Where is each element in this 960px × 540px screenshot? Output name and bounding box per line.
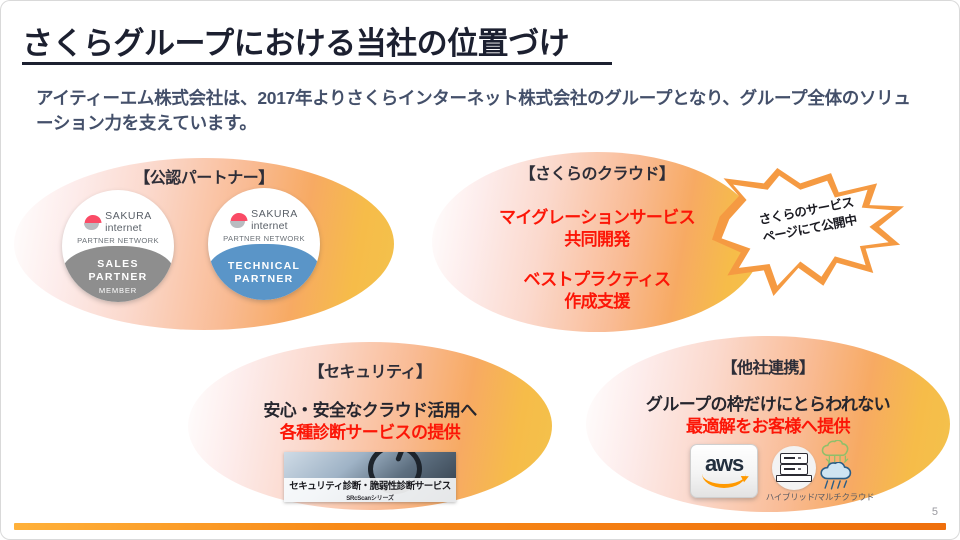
server-rack-icon [780, 464, 808, 475]
page-title: さくらグループにおける当社の位置づけ [22, 18, 642, 63]
group-partner-heading: 【公認パートナー】 [14, 164, 394, 188]
badge-tech-header: SAKURA internet PARTNER NETWORK [208, 188, 320, 246]
group-alliance-line2: 最適解をお客様へ提供 [586, 416, 950, 438]
sakura-mark-icon [84, 214, 101, 231]
slide-canvas: さくらグループにおける当社の位置づけ アイティーエム株式会社は、2017年よりさ… [0, 0, 960, 540]
badge-tier-line1: SALES [97, 258, 139, 270]
group-security-line1: 安心・安全なクラウド活用へ [188, 400, 552, 422]
badge-sales-partner: SAKURA internet PARTNER NETWORK SALES PA… [62, 190, 174, 302]
badge-network-label: PARTNER NETWORK [223, 234, 305, 243]
aws-smile-icon [702, 471, 746, 488]
banner-subcaption: SRcScanシリーズ [346, 493, 394, 502]
security-service-banner: セキュリティ診断・脆弱性診断サービス SRcScanシリーズ [284, 452, 456, 502]
sakura-brand-line1: SAKURA [251, 209, 298, 220]
sakura-brand-line1: SAKURA [105, 211, 152, 222]
slide-subtitle: アイティーエム株式会社は、2017年よりさくらインターネット株式会社のグループと… [36, 86, 916, 137]
badge-technical-partner: SAKURA internet PARTNER NETWORK TECHNICA… [208, 188, 320, 300]
group-alliance-line1: グループの枠だけにとらわれない [586, 394, 950, 416]
badge-member-label: MEMBER [99, 286, 137, 295]
page-number: 5 [932, 506, 938, 518]
title-underline [22, 62, 612, 65]
badge-tier-line2: PARTNER [88, 271, 147, 283]
sakura-mark-icon [230, 212, 247, 229]
sakura-internet-logo: SAKURA internet [230, 209, 298, 231]
badge-sales-tier: SALES PARTNER MEMBER [62, 246, 174, 302]
group-alliance-heading: 【他社連携】 [586, 354, 950, 378]
hybrid-cloud-caption: ハイブリッド/マルチクラウド [760, 492, 880, 503]
banner-caption: セキュリティ診断・脆弱性診断サービス [289, 478, 450, 492]
server-rack-icon [780, 453, 808, 464]
badge-network-label: PARTNER NETWORK [77, 236, 159, 245]
hybrid-multicloud-icon: ハイブリッド/マルチクラウド [764, 440, 876, 510]
badge-tier-line1: TECHNICAL [228, 260, 300, 272]
sakura-brand-line2: internet [251, 221, 298, 232]
blue-rain-cloud-icon [816, 462, 858, 492]
badge-sales-header: SAKURA internet PARTNER NETWORK [62, 190, 174, 248]
footer-accent-bar [14, 523, 946, 530]
badge-tier-line2: PARTNER [234, 273, 293, 285]
badge-tech-tier: TECHNICAL PARTNER [208, 244, 320, 300]
banner-caption-area: セキュリティ診断・脆弱性診断サービス SRcScanシリーズ [284, 478, 456, 502]
starburst-callout: さくらのサービス ページにて公開中 [712, 168, 904, 296]
sakura-brand-line2: internet [105, 223, 152, 234]
group-security-heading: 【セキュリティ】 [188, 358, 552, 382]
aws-logo: aws [690, 444, 758, 498]
group-security-line2: 各種診断サービスの提供 [188, 422, 552, 444]
server-base-icon [776, 475, 812, 482]
sakura-internet-logo: SAKURA internet [84, 211, 152, 233]
